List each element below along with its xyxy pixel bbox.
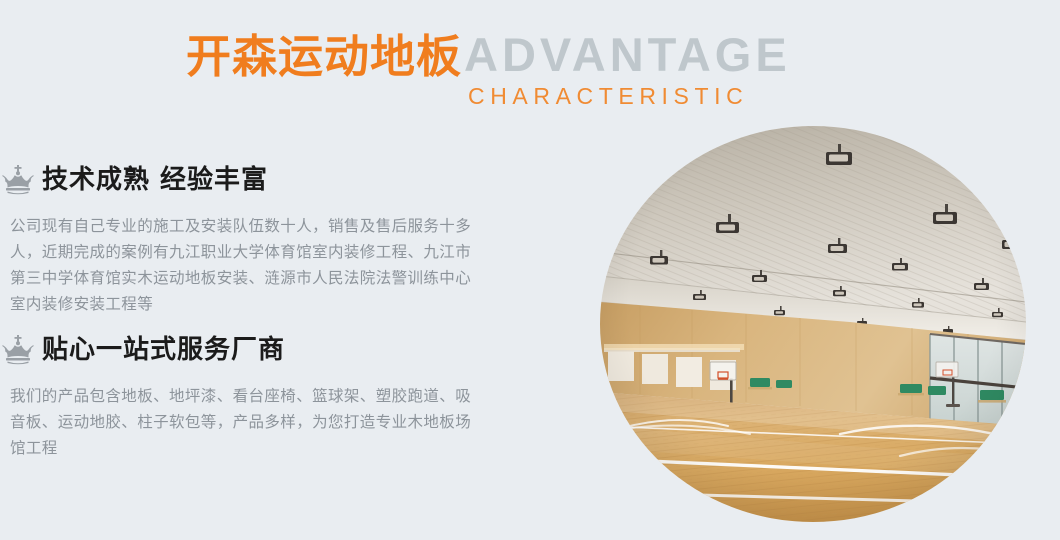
- feature-body-line: 人，近期完成的案例有九江职业大学体育馆室内装修工程、九江市: [10, 239, 575, 265]
- page-title-en-sub: CHARACTERISTIC: [468, 82, 791, 110]
- page-title-en-group: ADVANTAGE CHARACTERISTIC: [464, 30, 791, 110]
- feature-section-1: 技术成熟 经验丰富 公司现有自己专业的施工及安装队伍数十人，销售及售后服务十多 …: [0, 160, 575, 317]
- feature-body-line: 我们的产品包含地板、地坪漆、看台座椅、篮球架、塑胶跑道、吸: [10, 383, 575, 409]
- feature-section-2: 贴心一站式服务厂商 我们的产品包含地板、地坪漆、看台座椅、篮球架、塑胶跑道、吸 …: [0, 330, 575, 461]
- advantage-banner: 开森运动地板 ADVANTAGE CHARACTERISTIC 技术成熟 经验丰…: [0, 0, 1060, 540]
- basketball-gymnasium-photo: [600, 126, 1026, 522]
- feature-body-line: 音板、运动地胶、柱子软包等，产品多样，为您打造专业木地板场: [10, 409, 575, 435]
- feature-heading-row-2: 贴心一站式服务厂商: [0, 330, 575, 370]
- feature-body-line: 第三中学体育馆实木运动地板安装、涟源市人民法院法警训练中心: [10, 265, 575, 291]
- feature-heading-1: 技术成熟 经验丰富: [42, 165, 268, 195]
- page-title-cn: 开森运动地板: [186, 28, 462, 86]
- gymnasium-illustration: [600, 126, 1026, 522]
- feature-body-2: 我们的产品包含地板、地坪漆、看台座椅、篮球架、塑胶跑道、吸 音板、运动地胶、柱子…: [0, 383, 575, 461]
- feature-heading-2: 贴心一站式服务厂商: [42, 335, 285, 365]
- crown-icon: [1, 335, 35, 365]
- feature-body-line: 公司现有自己专业的施工及安装队伍数十人，销售及售后服务十多: [10, 213, 575, 239]
- page-title-en-main: ADVANTAGE: [464, 30, 791, 80]
- feature-body-1: 公司现有自己专业的施工及安装队伍数十人，销售及售后服务十多 人，近期完成的案例有…: [0, 213, 575, 317]
- feature-heading-row-1: 技术成熟 经验丰富: [0, 160, 575, 200]
- feature-body-line: 室内装修安装工程等: [10, 291, 575, 317]
- page-header: 开森运动地板 ADVANTAGE CHARACTERISTIC: [186, 28, 791, 110]
- crown-icon: [1, 165, 35, 195]
- feature-body-line: 馆工程: [10, 435, 575, 461]
